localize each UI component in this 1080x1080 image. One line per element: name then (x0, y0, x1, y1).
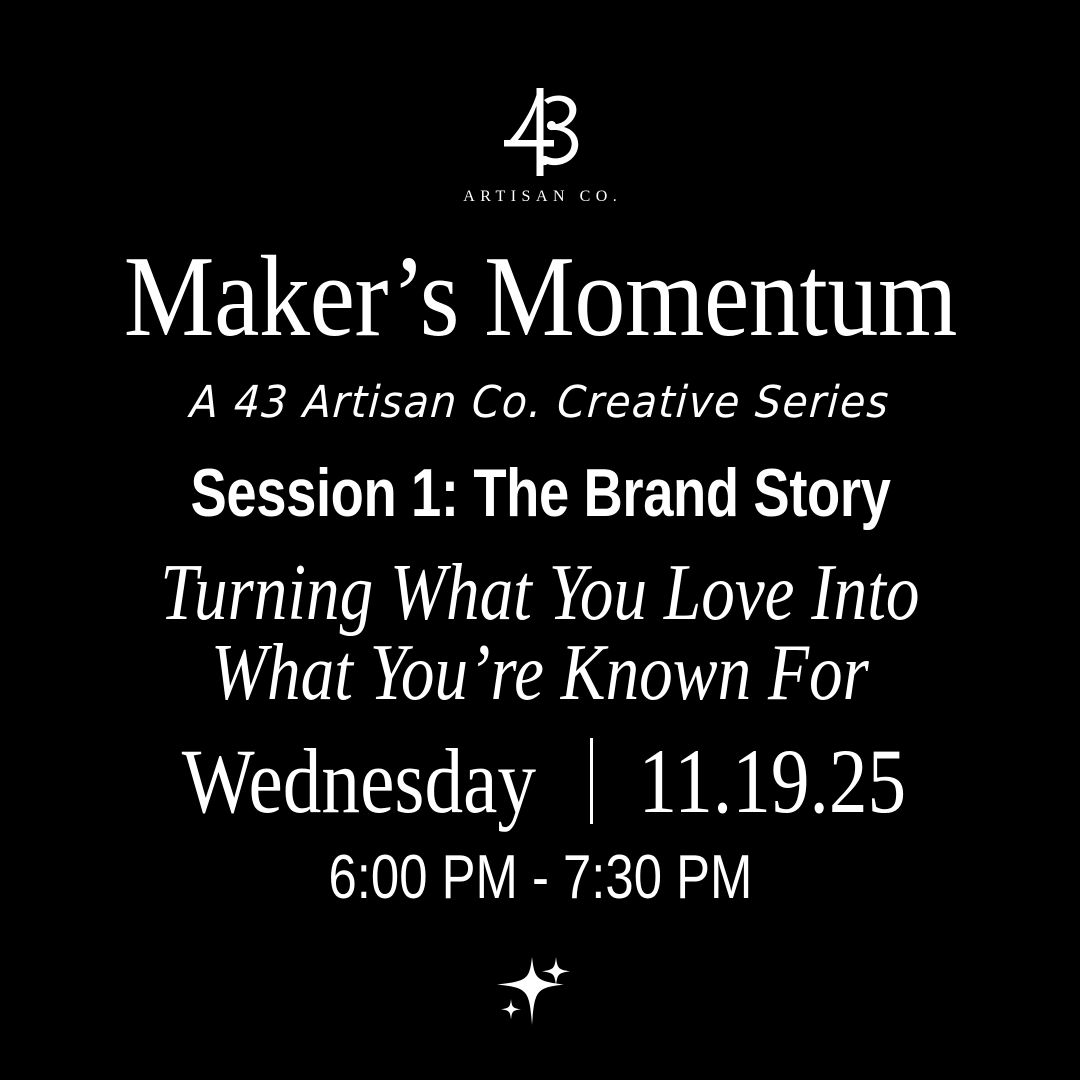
event-date-day: Wednesday (182, 735, 536, 827)
session-heading: Session 1: The Brand Story (190, 459, 890, 527)
series-subtitle: A 43 Artisan Co. Creative Series (189, 381, 891, 425)
event-tagline: Turning What You Love Into What You’re K… (88, 553, 992, 713)
brand-logo: ARTISAN CO. (458, 84, 623, 205)
event-date: Wednesday 11.19.25 (148, 735, 931, 827)
date-separator-bar (590, 738, 593, 824)
event-date-numeric: 11.19.25 (639, 735, 907, 827)
43-monogram-icon (480, 84, 600, 180)
logo-wordmark: ARTISAN CO. (458, 189, 623, 205)
page-title: Maker’s Momentum (123, 239, 956, 355)
sparkle-cluster-icon (492, 951, 588, 1031)
event-time-range: 6:00 PM - 7:30 PM (328, 847, 752, 909)
tagline-line-2: What You’re Known For (160, 633, 919, 713)
tagline-line-1: Turning What You Love Into (160, 553, 919, 633)
event-poster: ARTISAN CO. Maker’s Momentum A 43 Artisa… (0, 0, 1080, 1080)
